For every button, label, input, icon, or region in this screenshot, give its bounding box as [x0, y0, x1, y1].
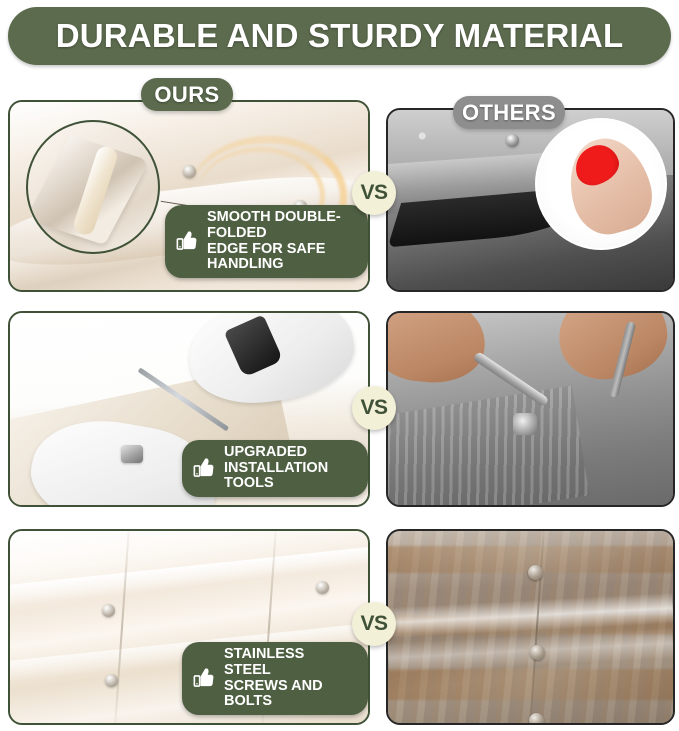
- page-title: DURABLE AND STURDY MATERIAL: [56, 17, 624, 55]
- vs-badge-row-3: VS: [352, 602, 396, 646]
- caption-smooth-double-folded-edge: SMOOTH DOUBLE-FOLDED EDGE FOR SAFE HANDL…: [165, 205, 368, 278]
- product-photo-sharp-edge: [388, 110, 673, 290]
- thumbs-up-icon: [191, 666, 217, 692]
- ours-panel-row-2: UPGRADED INSTALLATION TOOLS: [8, 311, 370, 507]
- caption-upgraded-installation-tools: UPGRADED INSTALLATION TOOLS: [182, 440, 368, 497]
- magnifier-inset-folded-edge: [26, 120, 160, 254]
- magnifier-inset-cut-finger: [535, 118, 667, 250]
- section-badge-others: OTHERS: [453, 96, 565, 129]
- vs-badge-row-1: VS: [352, 171, 396, 215]
- section-badge-ours: OURS: [141, 78, 233, 111]
- caption-stainless-steel-screws-and-bolts: STAINLESS STEEL SCREWS AND BOLTS: [182, 642, 368, 715]
- caption-text: UPGRADED INSTALLATION TOOLS: [224, 445, 354, 492]
- product-photo-difficult-tools: [388, 313, 673, 505]
- ours-panel-row-1: SMOOTH DOUBLE-FOLDED EDGE FOR SAFE HANDL…: [8, 100, 370, 292]
- product-photo-rusted-screws: [388, 531, 673, 723]
- infographic-page: DURABLE AND STURDY MATERIAL OURS OTHERS …: [0, 0, 679, 731]
- others-panel-row-2: DIFFICULT INSTALLATION TOOLS: [386, 311, 675, 507]
- others-panel-row-1: SHARP EDGES CAN SCRATCH HANDS: [386, 108, 675, 292]
- others-panel-row-3: EASY TO RUST SCREWS AND BOLTS: [386, 529, 675, 725]
- caption-text: STAINLESS STEEL SCREWS AND BOLTS: [224, 647, 354, 710]
- comparison-row-3: STAINLESS STEEL SCREWS AND BOLTS: [0, 521, 679, 727]
- caption-text: SMOOTH DOUBLE-FOLDED EDGE FOR SAFE HANDL…: [207, 210, 354, 273]
- header-banner: DURABLE AND STURDY MATERIAL: [8, 7, 671, 65]
- comparison-row-1: SMOOTH DOUBLE-FOLDED EDGE FOR SAFE HANDL…: [0, 86, 679, 292]
- comparison-row-2: UPGRADED INSTALLATION TOOLS: [0, 303, 679, 511]
- thumbs-up-icon: [191, 456, 217, 482]
- thumbs-up-icon: [174, 229, 200, 255]
- vs-badge-row-2: VS: [352, 386, 396, 430]
- ours-panel-row-3: STAINLESS STEEL SCREWS AND BOLTS: [8, 529, 370, 725]
